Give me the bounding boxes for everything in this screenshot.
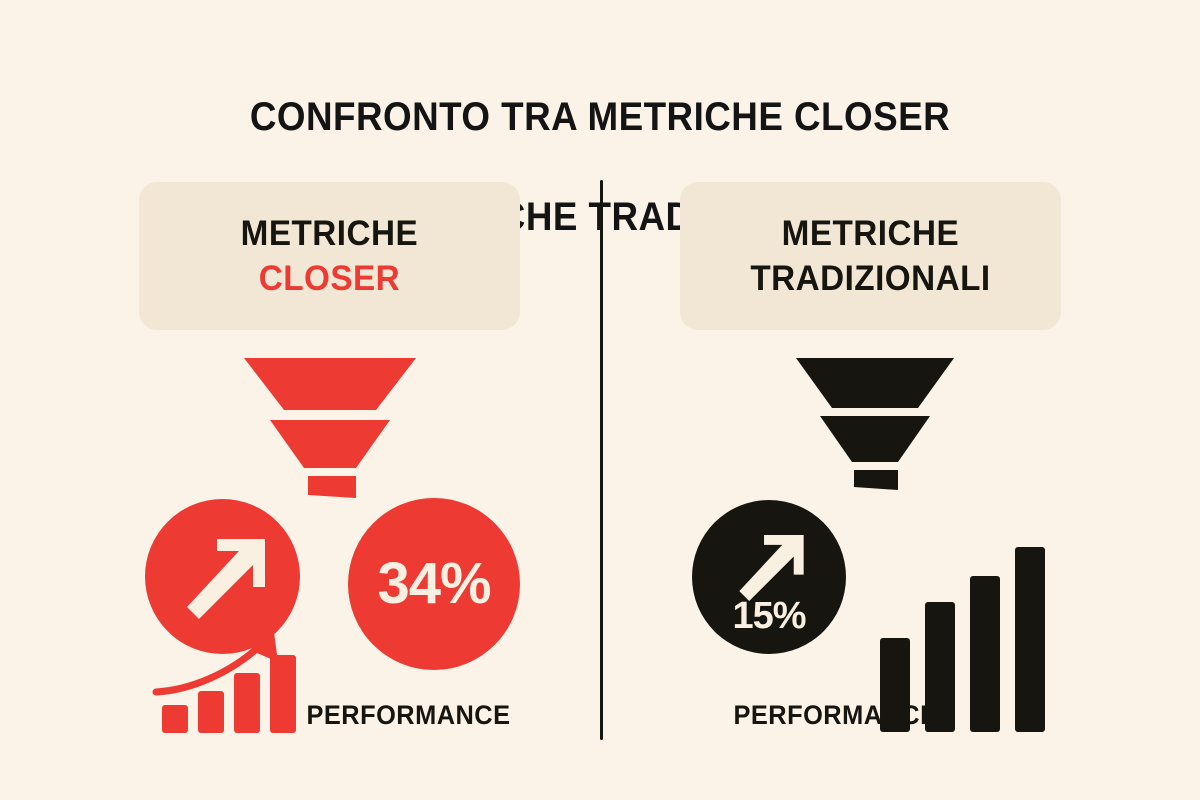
card-metriche-tradizionali: METRICHE TRADIZIONALI — [680, 182, 1061, 330]
funnel-icon — [240, 352, 420, 500]
card-right-line-1: METRICHE — [782, 211, 959, 256]
bar-4 — [270, 655, 296, 733]
card-metriche-closer: METRICHE CLOSER — [139, 182, 520, 330]
performance-label-left: PERFORMANCE — [307, 700, 511, 731]
column-metriche-closer: METRICHE CLOSER 34% — [0, 0, 600, 800]
performance-label-right: PERFORMANCE — [734, 700, 938, 731]
card-left-line-2: CLOSER — [259, 256, 400, 301]
percentage-value-left: 34% — [377, 555, 490, 613]
card-right-line-2: TRADIZIONALI — [750, 256, 990, 301]
funnel-icon-black — [792, 352, 958, 492]
percentage-circle-black: 15% — [692, 500, 846, 654]
bar-3 — [234, 673, 260, 733]
percentage-circle-red: 34% — [348, 498, 520, 670]
percentage-value-right: 15% — [732, 597, 805, 635]
trending-up-arrow-icon — [175, 529, 271, 625]
bar-chart-icon-red — [162, 655, 296, 733]
bar-4 — [1015, 547, 1045, 732]
bar-3 — [970, 576, 1000, 732]
card-left-line-1: METRICHE — [241, 211, 418, 256]
trending-up-arrow-icon — [729, 535, 809, 601]
bar-2 — [198, 691, 224, 733]
bar-1 — [162, 705, 188, 733]
infographic-canvas: CONFRONTO TRA METRICHE CLOSER E METRICHE… — [0, 0, 1200, 800]
